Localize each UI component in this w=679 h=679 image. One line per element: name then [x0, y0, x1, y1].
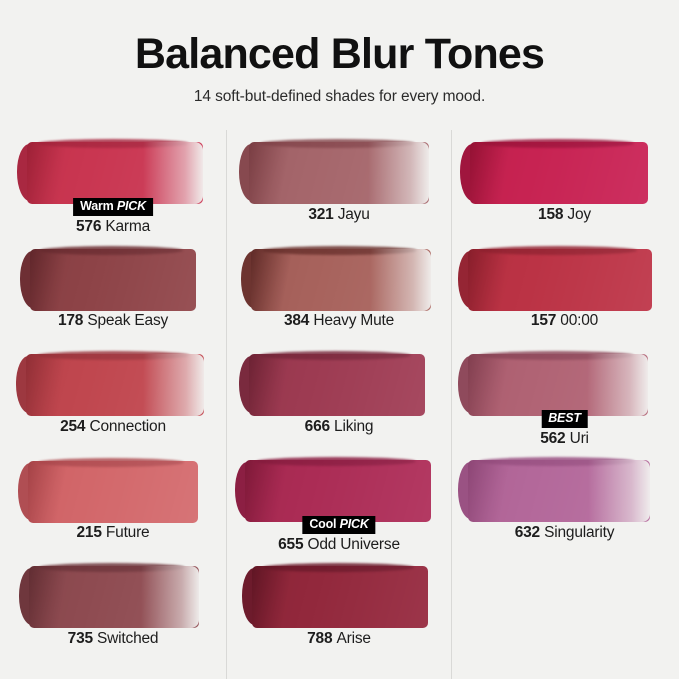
color-swatch[interactable] — [245, 460, 431, 522]
shade-item[interactable]: 321 Jayu — [227, 130, 451, 224]
shade-code: 157 — [531, 312, 560, 329]
shade-name: Joy — [567, 206, 591, 223]
shade-item[interactable]: Cool PICK655 Odd Universe — [227, 448, 451, 554]
shade-label: 158 Joy — [452, 206, 677, 224]
swatch-wrapper — [227, 554, 451, 622]
shade-name: Uri — [570, 430, 589, 447]
swatch-fade — [143, 354, 204, 416]
shade-name: Arise — [337, 630, 371, 647]
shade-column-2: 321 Jayu384 Heavy Mute666 LikingCool PIC… — [226, 130, 452, 679]
shade-code: 735 — [68, 630, 97, 647]
swatch-gloss — [28, 461, 198, 523]
swatch-gloss — [468, 249, 652, 311]
swatch-fade — [368, 142, 429, 204]
pick-badge: BEST — [541, 410, 588, 428]
shade-label-row: 666 Liking — [227, 414, 451, 436]
shade-code: 655 — [278, 536, 307, 553]
page-subtitle: 14 soft-but-defined shades for every moo… — [0, 88, 679, 106]
shade-code: 576 — [76, 218, 105, 235]
swatch-wrapper — [0, 236, 226, 304]
swatch-gloss — [252, 566, 428, 628]
swatch-wrapper — [0, 554, 226, 622]
badge-emphasis: PICK — [340, 517, 369, 531]
shade-label-row: Cool PICK655 Odd Universe — [227, 520, 451, 554]
swatch-wrapper — [452, 448, 677, 516]
swatch-wrapper — [452, 342, 677, 410]
shade-item[interactable]: 157 00:00 — [452, 236, 677, 330]
swatch-wrapper — [227, 130, 451, 198]
shade-label: 788 Arise — [227, 630, 451, 648]
color-swatch[interactable] — [251, 249, 431, 311]
shade-label: 384 Heavy Mute — [227, 312, 451, 330]
shade-label: 655 Odd Universe — [227, 536, 451, 554]
shade-column-1: Warm PICK576 Karma178 Speak Easy254 Conn… — [0, 130, 226, 679]
shade-code: 384 — [284, 312, 313, 329]
swatch-fade — [143, 142, 203, 204]
shade-name: 00:00 — [560, 312, 598, 329]
shade-label-row: 158 Joy — [452, 202, 677, 224]
page-header: Balanced Blur Tones 14 soft-but-defined … — [0, 0, 679, 106]
swatch-fade — [588, 460, 650, 522]
shade-item[interactable]: 215 Future — [0, 448, 226, 542]
shade-item[interactable]: 254 Connection — [0, 342, 226, 436]
shade-label-row: BEST562 Uri — [452, 414, 677, 448]
shade-name: Liking — [334, 418, 373, 435]
shade-code: 788 — [307, 630, 336, 647]
shade-item[interactable]: 384 Heavy Mute — [227, 236, 451, 330]
swatch-gloss — [249, 354, 425, 416]
shade-label-row: Warm PICK576 Karma — [0, 202, 226, 236]
color-swatch[interactable] — [468, 249, 652, 311]
shade-name: Jayu — [338, 206, 370, 223]
swatch-fade — [370, 249, 431, 311]
shade-label: 735 Switched — [0, 630, 226, 648]
shade-label: 215 Future — [0, 524, 226, 542]
shade-label: 666 Liking — [227, 418, 451, 436]
color-swatch[interactable] — [252, 566, 428, 628]
swatch-wrapper — [227, 236, 451, 304]
color-swatch[interactable] — [249, 142, 429, 204]
swatch-wrapper — [0, 448, 226, 516]
swatch-wrapper — [452, 236, 677, 304]
shade-code: 666 — [305, 418, 334, 435]
badge-emphasis: BEST — [548, 411, 581, 425]
shade-item[interactable]: 735 Switched — [0, 554, 226, 648]
swatch-fade — [587, 354, 648, 416]
shade-item[interactable]: 632 Singularity — [452, 448, 677, 542]
shade-label: 178 Speak Easy — [0, 312, 226, 330]
shade-label-row: 632 Singularity — [452, 520, 677, 542]
shade-label-row: 384 Heavy Mute — [227, 308, 451, 330]
color-swatch[interactable] — [30, 249, 196, 311]
shade-label-row: 215 Future — [0, 520, 226, 542]
shade-item[interactable]: 158 Joy — [452, 130, 677, 224]
shade-label-row: 157 00:00 — [452, 308, 677, 330]
shade-item[interactable]: 788 Arise — [227, 554, 451, 648]
shade-label-row: 735 Switched — [0, 626, 226, 648]
swatch-wrapper — [452, 130, 677, 198]
swatch-wrapper — [227, 448, 451, 516]
color-swatch[interactable] — [470, 142, 648, 204]
swatch-wrapper — [227, 342, 451, 410]
shade-code: 158 — [538, 206, 567, 223]
swatch-fade — [141, 566, 199, 628]
shade-name: Heavy Mute — [313, 312, 394, 329]
shade-name: Switched — [97, 630, 158, 647]
badge-prefix: Warm — [80, 199, 117, 213]
shade-grid: Warm PICK576 Karma178 Speak Easy254 Conn… — [0, 130, 679, 679]
badge-prefix: Cool — [309, 517, 339, 531]
pick-badge: Cool PICK — [302, 516, 375, 534]
color-swatch[interactable] — [29, 566, 199, 628]
shade-label: 576 Karma — [0, 218, 226, 236]
shade-code: 562 — [540, 430, 569, 447]
shade-label: 632 Singularity — [452, 524, 677, 542]
shade-label: 157 00:00 — [452, 312, 677, 330]
shade-column-3: 158 Joy157 00:00BEST562 Uri632 Singulari… — [452, 130, 677, 679]
color-swatch[interactable] — [27, 142, 203, 204]
shade-code: 321 — [308, 206, 337, 223]
shade-code: 178 — [58, 312, 87, 329]
color-swatch[interactable] — [249, 354, 425, 416]
swatch-wrapper — [0, 130, 226, 198]
shade-label-row: 321 Jayu — [227, 202, 451, 224]
shade-label-row: 788 Arise — [227, 626, 451, 648]
shade-name: Future — [106, 524, 150, 541]
shade-label: 254 Connection — [0, 418, 226, 436]
shade-name: Singularity — [544, 524, 614, 541]
swatch-gloss — [470, 142, 648, 204]
shade-name: Karma — [105, 218, 150, 235]
shade-code: 632 — [515, 524, 544, 541]
shade-chart-page: Balanced Blur Tones 14 soft-but-defined … — [0, 0, 679, 679]
swatch-wrapper — [0, 342, 226, 410]
shade-name: Odd Universe — [308, 536, 400, 553]
shade-item[interactable]: 178 Speak Easy — [0, 236, 226, 330]
color-swatch[interactable] — [28, 461, 198, 523]
shade-label-row: 254 Connection — [0, 414, 226, 436]
shade-name: Connection — [89, 418, 165, 435]
swatch-gloss — [245, 460, 431, 522]
shade-name: Speak Easy — [87, 312, 168, 329]
shade-code: 254 — [60, 418, 89, 435]
shade-item[interactable]: 666 Liking — [227, 342, 451, 436]
shade-code: 215 — [77, 524, 106, 541]
color-swatch[interactable] — [468, 354, 648, 416]
shade-label-row: 178 Speak Easy — [0, 308, 226, 330]
color-swatch[interactable] — [26, 354, 204, 416]
page-title: Balanced Blur Tones — [0, 32, 679, 77]
badge-emphasis: PICK — [117, 199, 146, 213]
shade-item[interactable]: Warm PICK576 Karma — [0, 130, 226, 236]
shade-label: 562 Uri — [452, 430, 677, 448]
shade-item[interactable]: BEST562 Uri — [452, 342, 677, 448]
color-swatch[interactable] — [468, 460, 650, 522]
swatch-gloss — [30, 249, 196, 311]
shade-label: 321 Jayu — [227, 206, 451, 224]
pick-badge: Warm PICK — [73, 198, 153, 216]
